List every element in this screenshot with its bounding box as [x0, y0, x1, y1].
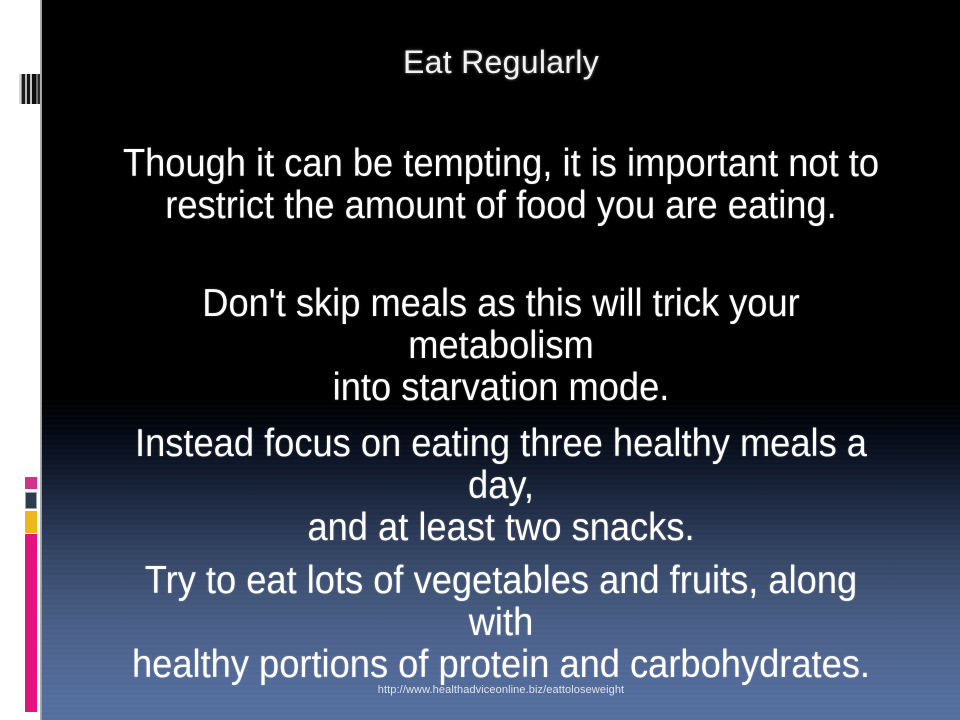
slide-content: Eat Regularly Though it can be tempting,… — [42, 0, 960, 720]
body-paragraph-2: Don't skip meals as this will trick your… — [111, 283, 890, 409]
ornament-bar-magenta — [25, 534, 37, 712]
body-paragraph-4: Try to eat lots of vegetables and fruits… — [111, 560, 890, 686]
body-paragraph-1: Though it can be tempting, it is importa… — [111, 143, 890, 227]
ornament-chip-navy — [25, 492, 37, 509]
body-paragraph-3: Instead focus on eating three healthy me… — [111, 423, 890, 549]
ornament-chip-magenta-top — [25, 477, 37, 489]
footer-source-url[interactable]: http://www.healthadviceonline.biz/eattol… — [42, 684, 960, 696]
slide-title: Eat Regularly — [42, 44, 960, 81]
vertical-bars-ornament-icon — [19, 74, 40, 104]
presentation-slide: Eat Regularly Though it can be tempting,… — [0, 0, 960, 720]
ornament-chip-yellow — [25, 511, 37, 533]
